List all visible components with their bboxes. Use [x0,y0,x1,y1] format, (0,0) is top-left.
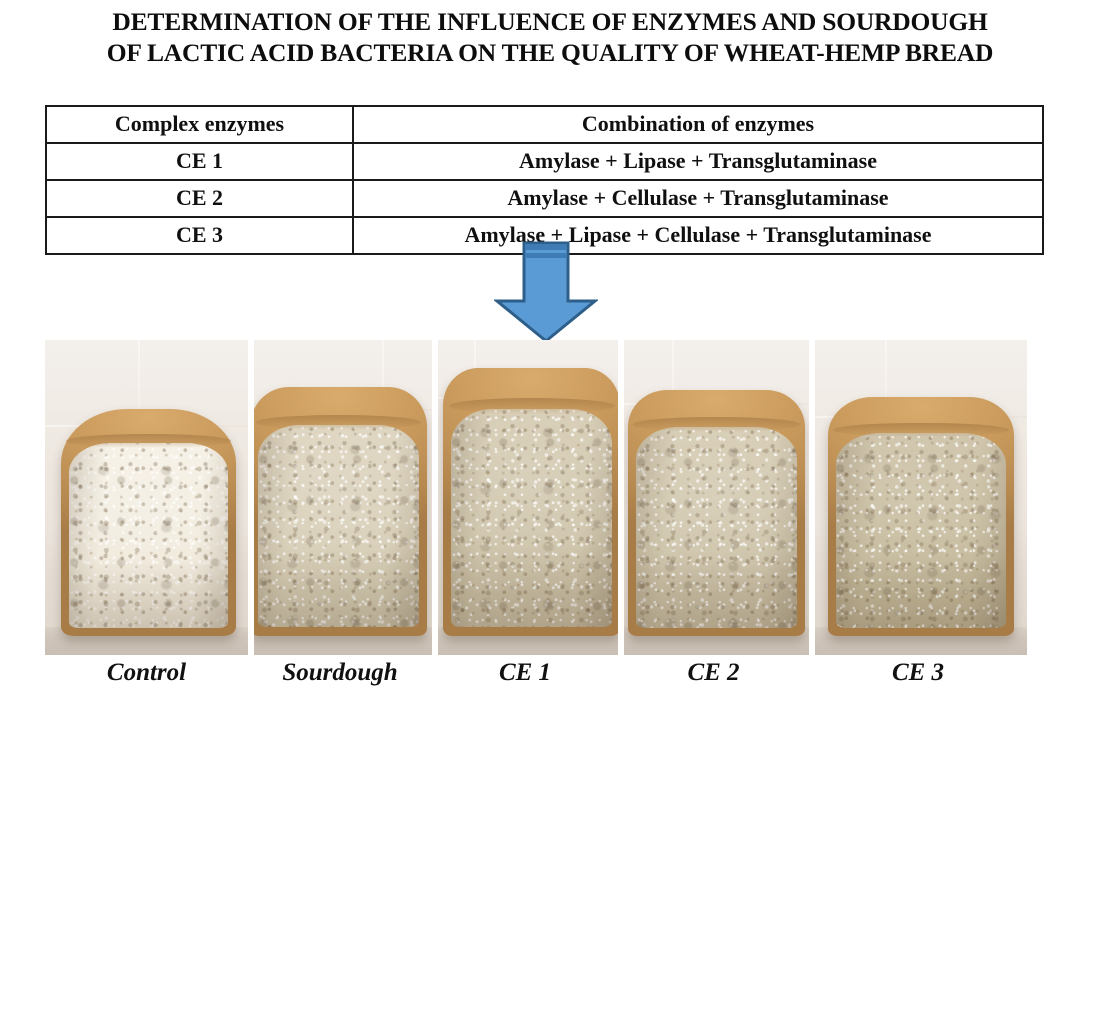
down-arrow-icon [494,241,598,343]
table-row: CE 1 Amylase + Lipase + Transglutaminase [46,143,1043,180]
bread-photo-control[interactable] [45,340,248,655]
bread-photo-sourdough[interactable] [254,340,432,655]
loaf-crumb [836,433,1006,628]
table-cell-combination: Amylase + Lipase + Transglutaminase [353,143,1043,180]
table-cell-code: CE 3 [46,217,353,254]
loaf-control [61,409,236,636]
table-cell-combination: Amylase + Lipase + Cellulase + Transglut… [353,217,1043,254]
bread-photo-ce-2[interactable] [624,340,809,655]
loaf-crumb [69,443,228,628]
loaf-crust-lip [66,434,230,448]
bread-label-ce-3: CE 3 [809,657,1027,689]
page-title-line-1: DETERMINATION OF THE INFLUENCE OF ENZYME… [0,6,1100,37]
loaf-crumb [258,425,418,628]
bread-photo-ce-3[interactable] [815,340,1027,655]
loaf-ce-1 [443,368,618,636]
bread-label-ce-2: CE 2 [618,657,809,689]
bread-label-row: Control Sourdough CE 1 CE 2 CE 3 [45,657,1027,689]
enzyme-table: Complex enzymes Combination of enzymes C… [45,105,1044,255]
table-cell-code: CE 2 [46,180,353,217]
loaf-crumb [636,427,798,627]
table-header-row: Complex enzymes Combination of enzymes [46,106,1043,143]
loaf-sourdough [254,387,427,636]
table-cell-combination: Amylase + Cellulase + Transglutaminase [353,180,1043,217]
table-cell-code: CE 1 [46,143,353,180]
arrow-band-lower [525,253,567,258]
loaf-ce-2 [628,390,806,636]
loaf-crumb [451,409,612,627]
loaf-crust-lip [256,415,422,430]
bread-label-ce-1: CE 1 [432,657,618,689]
bread-label-control: Control [45,657,248,689]
table-row: CE 2 Amylase + Cellulase + Transglutamin… [46,180,1043,217]
bread-sample-strip [45,340,1027,655]
page-title: DETERMINATION OF THE INFLUENCE OF ENZYME… [0,6,1100,68]
table-header-complex-enzymes: Complex enzymes [46,106,353,143]
bread-photo-ce-1[interactable] [438,340,618,655]
table-header-combination: Combination of enzymes [353,106,1043,143]
bread-label-sourdough: Sourdough [248,657,432,689]
loaf-ce-3 [828,397,1015,636]
loaf-crust-lip [449,398,615,414]
page-title-line-2: OF LACTIC ACID BACTERIA ON THE QUALITY O… [0,37,1100,68]
arrow-band-upper [525,244,567,250]
